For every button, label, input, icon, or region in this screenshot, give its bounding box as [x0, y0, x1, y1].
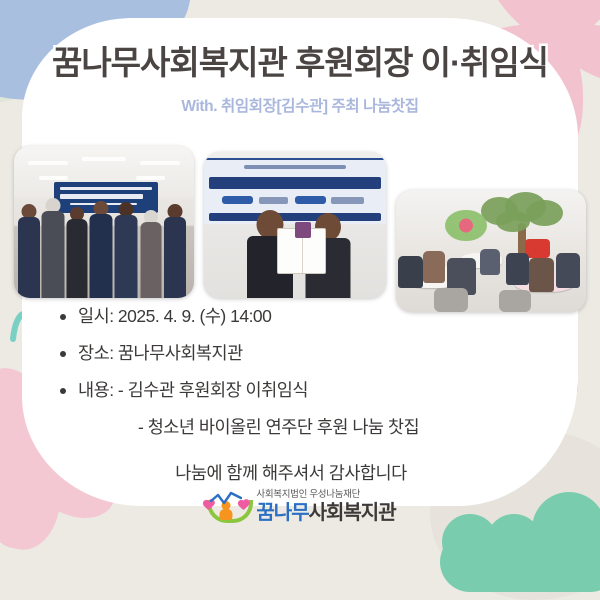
dreamtree-logo-icon — [204, 490, 248, 524]
footer-org-line: 사회복지법인 우성나눔재단 — [256, 490, 395, 500]
certificate-photo — [204, 152, 386, 298]
footer-name-dark: 사회복지관 — [309, 502, 396, 524]
footer-logo: 사회복지법인 우성나눔재단 꿈나무사회복지관 — [0, 490, 600, 524]
list-item: 장소: 꿈나무사회복지관 — [78, 343, 600, 364]
photo-banner — [204, 158, 386, 224]
details-list: 일시: 2025. 4. 9. (수) 14:00 장소: 꿈나무사회복지관 내… — [0, 306, 600, 401]
thanks-message: 나눔에 함께 해주셔서 감사합니다 — [0, 460, 600, 485]
group-photo — [14, 146, 194, 298]
details-sub-line: - 청소년 바이올린 연주단 후원 나눔 찻집 — [138, 417, 600, 438]
list-item: 내용: - 김수관 후원회장 이취임식 — [78, 380, 600, 401]
event-details: 일시: 2025. 4. 9. (수) 14:00 장소: 꿈나무사회복지관 내… — [0, 306, 600, 485]
page-title: 꿈나무사회복지관 후원회장 이·취임식 — [0, 0, 600, 84]
poster-header: 꿈나무사회복지관 후원회장 이·취임식 With. 취임회장[김수관] 주최 나… — [0, 0, 600, 116]
photo-strip — [0, 142, 600, 314]
footer-name-blue: 꿈나무 — [256, 502, 308, 524]
zigzag-icon — [210, 491, 242, 510]
list-item: 일시: 2025. 4. 9. (수) 14:00 — [78, 306, 600, 327]
page-subtitle: With. 취임회장[김수관] 주최 나눔찻집 — [0, 94, 600, 116]
tea-house-photo — [396, 190, 586, 312]
